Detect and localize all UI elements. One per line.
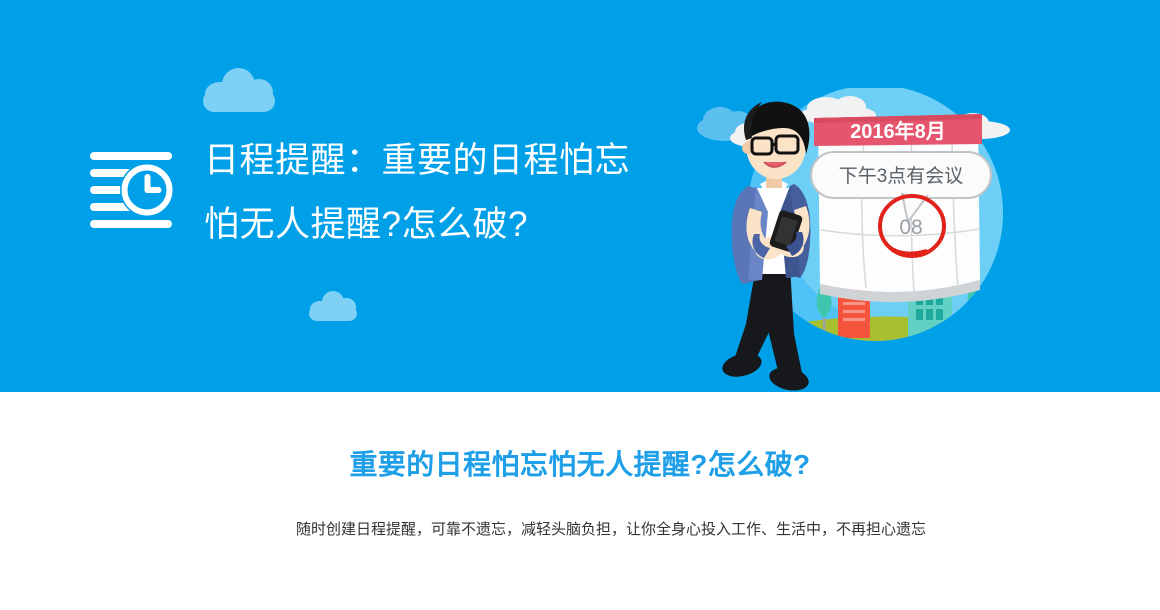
speech-bubble-text: 下午3点有会议 [839, 165, 964, 187]
calendar-day-number: 08 [899, 216, 922, 239]
man-with-phone [720, 102, 811, 392]
hero-banner: 日程提醒：重要的日程怕忘 怕无人提醒?怎么破? [0, 0, 1160, 392]
cloud-top-left-icon [203, 68, 275, 112]
cloud-bottom-left-icon [309, 291, 357, 321]
calendar: 2016年8月 下午3点有会议 08 [811, 114, 991, 302]
calendar-month-label: 2016年8月 [850, 119, 946, 143]
schedule-reminder-illustration: 2016年8月 下午3点有会议 08 [690, 88, 1060, 392]
hero-title: 日程提醒：重要的日程怕忘 怕无人提醒?怎么破? [204, 129, 674, 257]
section-description: 随时创建日程提醒，可靠不遗忘，减轻头脑负担，让你全身心投入工作、生活中，不再担心… [296, 516, 926, 543]
section-heading: 重要的日程怕忘怕无人提醒?怎么破? [0, 443, 1160, 483]
page-root: 日程提醒：重要的日程怕忘 怕无人提醒?怎么破? [0, 0, 1160, 610]
lower-section: 重要的日程怕忘怕无人提醒?怎么破? 随时创建日程提醒，可靠不遗忘，减轻头脑负担，… [0, 392, 1160, 610]
schedule-clock-icon [90, 152, 182, 229]
